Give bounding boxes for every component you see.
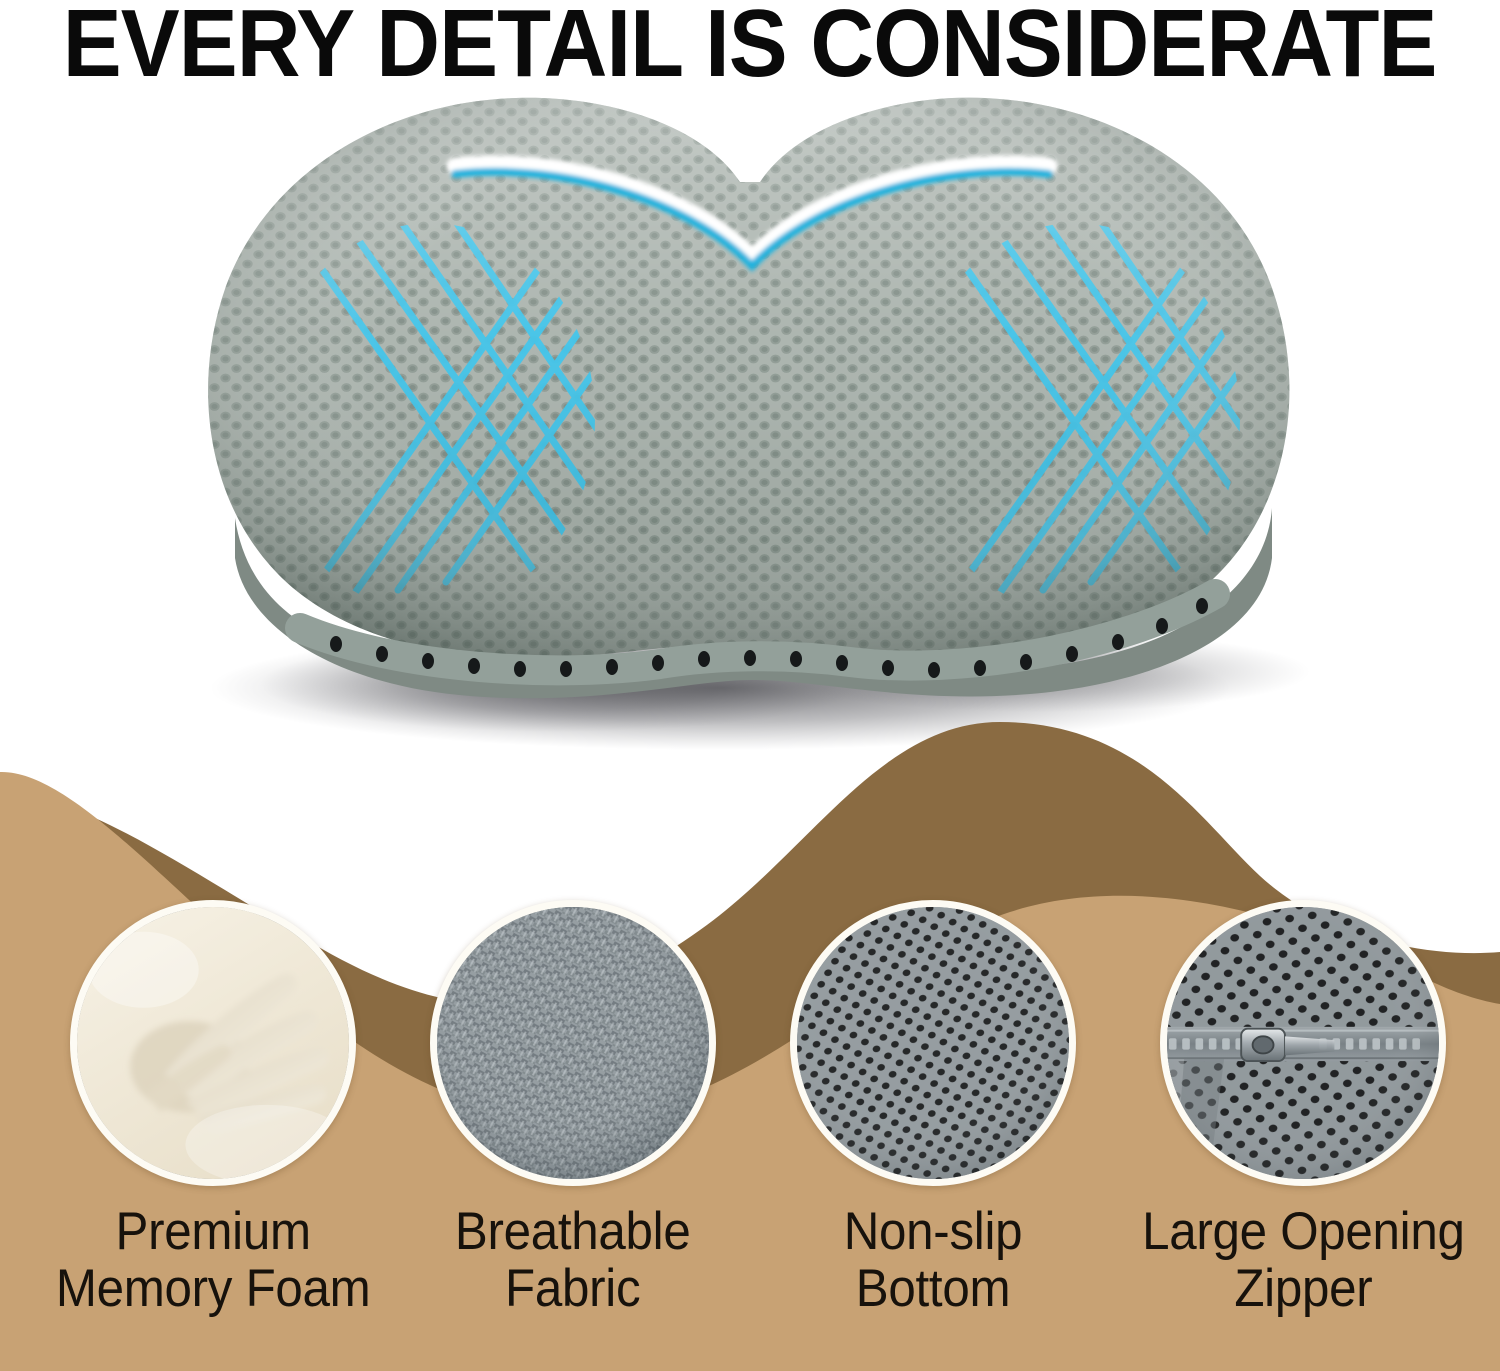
woven-fabric-icon[interactable] [430, 900, 716, 1186]
cushion-body [208, 98, 1347, 661]
feature-item-large-opening-zipper[interactable]: Large Opening Zipper [1123, 900, 1483, 1317]
page-title: EVERY DETAIL IS CONSIDERATE [0, 0, 1500, 88]
non-slip-dots-icon[interactable] [790, 900, 1076, 1186]
product-feature-page: EVERY DETAIL IS CONSIDERATE [0, 0, 1500, 1371]
feature-list: Premium Memory Foam [0, 900, 1500, 1371]
zipper-icon[interactable] [1160, 900, 1446, 1186]
feature-label: Breathable Fabric [455, 1204, 691, 1317]
feature-label-line2: Memory Foam [56, 1261, 371, 1318]
feature-label-line2: Zipper [1142, 1261, 1464, 1318]
feature-item-breathable-fabric[interactable]: Breathable Fabric [393, 900, 753, 1317]
feature-label-line1: Large Opening [1142, 1202, 1464, 1261]
feature-label: Large Opening Zipper [1142, 1204, 1464, 1317]
feature-label-line2: Bottom [844, 1261, 1023, 1318]
feature-label-line2: Fabric [455, 1261, 691, 1318]
memory-foam-handprint-icon[interactable] [70, 900, 356, 1186]
feature-label-line1: Breathable [455, 1202, 691, 1261]
hero-product-image [0, 88, 1500, 760]
feature-label: Premium Memory Foam [56, 1204, 371, 1317]
feature-label-line1: Non-slip [844, 1202, 1023, 1261]
feature-item-premium-memory-foam[interactable]: Premium Memory Foam [33, 900, 393, 1317]
feature-item-non-slip-bottom[interactable]: Non-slip Bottom [753, 900, 1113, 1317]
headline-text: EVERY DETAIL IS CONSIDERATE [63, 5, 1437, 84]
feature-label-line1: Premium [115, 1202, 310, 1261]
feature-label: Non-slip Bottom [844, 1204, 1023, 1317]
